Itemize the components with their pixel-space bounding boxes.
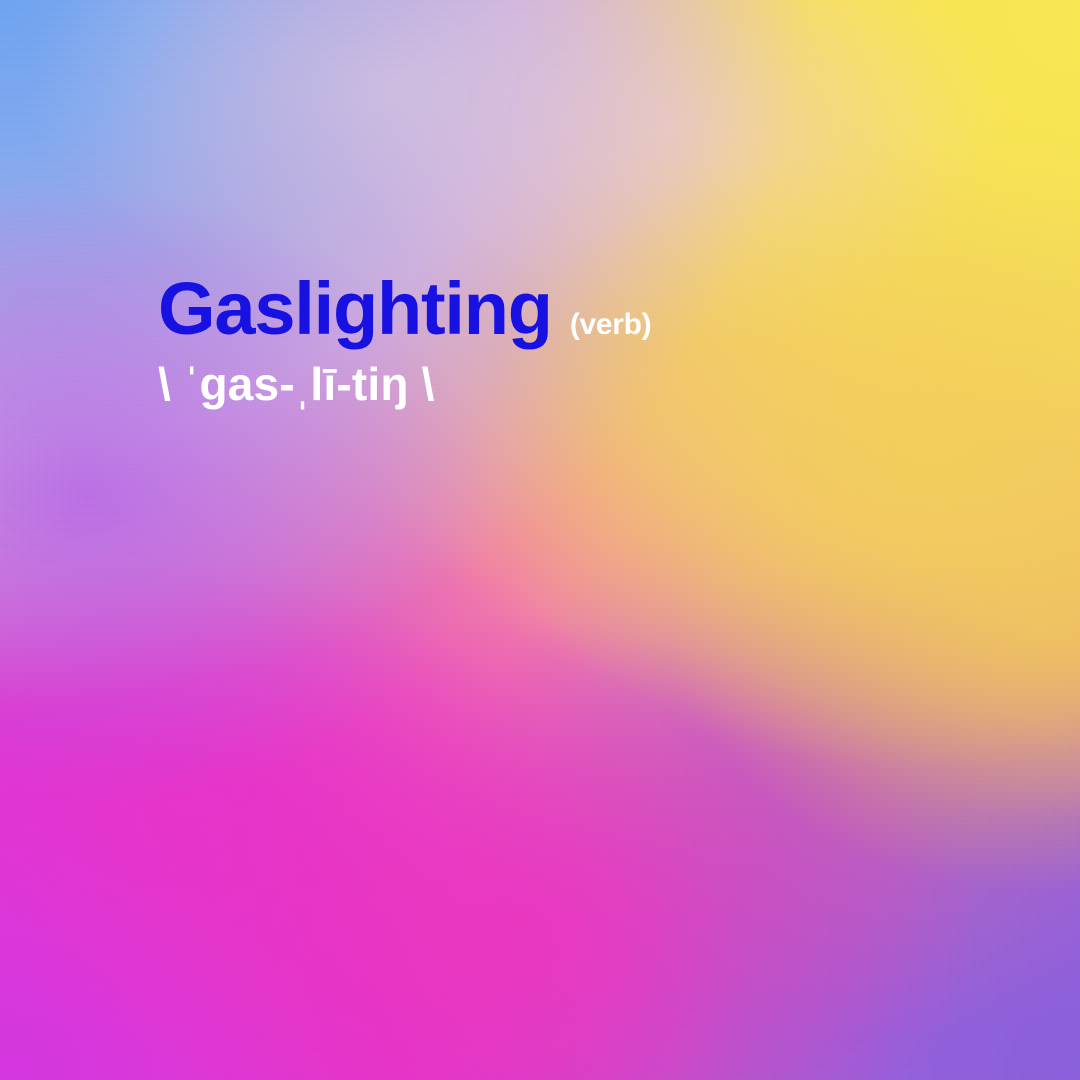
part-of-speech-label: (verb) [570,308,652,342]
gaslighting-gradient-card: Gaslighting (verb) \ ˈgas-ˌlī-tiŋ \ [0,0,1080,1080]
background-gradient-base [0,0,1080,1080]
background-gradient-dither [0,0,1080,1080]
dictionary-entry: Gaslighting (verb) \ ˈgas-ˌlī-tiŋ \ [158,272,978,408]
headword: Gaslighting [158,272,552,346]
headword-row: Gaslighting (verb) [158,272,978,346]
pronunciation: \ ˈgas-ˌlī-tiŋ \ [158,360,978,408]
background-gradient-blobs [0,0,1080,1080]
